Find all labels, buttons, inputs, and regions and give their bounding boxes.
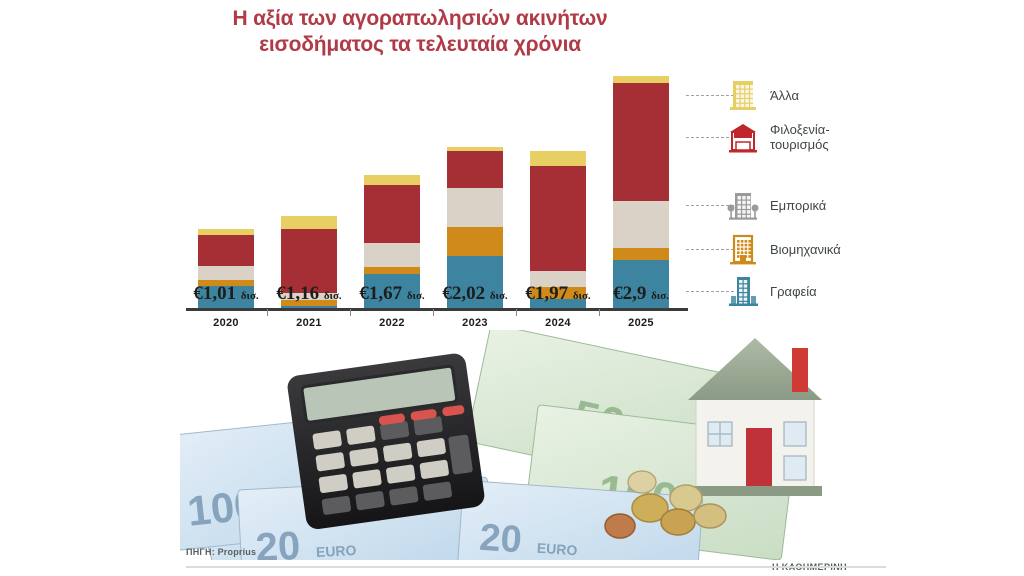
legend-item-Φιλοξενία-τουρισμός[interactable]: Φιλοξενία-τουρισμός bbox=[726, 120, 830, 154]
orange-building-icon bbox=[726, 232, 760, 266]
bar-segment-Φιλοξενία-τουρισμός bbox=[364, 185, 420, 243]
bar-segment-Φιλοξενία-τουρισμός bbox=[530, 166, 586, 271]
x-axis-label-2021: 2021 bbox=[296, 317, 322, 329]
chart-bars-container: €1,01 δισ.2020€1,16 δισ.2021€1,67 δισ.20… bbox=[186, 60, 686, 310]
axis-tick bbox=[599, 309, 600, 316]
bar-segment-Εμπορικά bbox=[364, 243, 420, 267]
legend-item-Γραφεία[interactable]: Γραφεία bbox=[726, 274, 817, 308]
page-title: Η αξία των αγοραπωλησιών ακινήτων εισοδή… bbox=[140, 6, 700, 58]
x-axis-label-2020: 2020 bbox=[213, 317, 239, 329]
bar-segment-Φιλοξενία-τουρισμός bbox=[198, 235, 254, 266]
axis-tick bbox=[267, 309, 268, 316]
legend-item-Άλλα[interactable]: Άλλα bbox=[726, 78, 799, 112]
bar-value-label: €1,97 δισ. bbox=[525, 283, 590, 305]
axis-tick bbox=[350, 309, 351, 316]
x-axis-label-2023: 2023 bbox=[462, 317, 488, 329]
bar-value-label: €1,67 δισ. bbox=[359, 283, 424, 305]
x-axis-label-2025: 2025 bbox=[628, 317, 654, 329]
bar-value-unit: δισ. bbox=[407, 290, 425, 302]
bar-value-unit: δισ. bbox=[241, 290, 259, 302]
legend-item-label: Εμπορικά bbox=[770, 198, 826, 213]
legend-item-label: Γραφεία bbox=[770, 284, 817, 299]
stacked-bar[interactable] bbox=[613, 76, 669, 310]
bar-value-label: €1,01 δισ. bbox=[193, 283, 258, 305]
source-label: ΠΗΓΗ: Proprius bbox=[186, 547, 256, 557]
legend-item-Εμπορικά[interactable]: Εμπορικά bbox=[726, 188, 826, 222]
bar-segment-Βιομηχανικά bbox=[447, 227, 503, 256]
x-axis-label-2022: 2022 bbox=[379, 317, 405, 329]
yellow-building-icon bbox=[726, 78, 760, 112]
bar-value-unit: δισ. bbox=[651, 290, 669, 302]
bar-segment-Φιλοξενία-τουρισμός bbox=[613, 83, 669, 202]
bar-segment-Φιλοξενία-τουρισμός bbox=[447, 151, 503, 188]
bar-segment-Άλλα bbox=[281, 216, 337, 229]
photo-svg: 20 EURO 100 50 100 20 EU bbox=[180, 330, 880, 560]
gray-building-icon bbox=[726, 188, 760, 222]
legend-item-label: Άλλα bbox=[770, 88, 799, 103]
bar-value-label: €1,16 δισ. bbox=[276, 283, 341, 305]
bar-segment-Άλλα bbox=[530, 151, 586, 166]
bar-segment-Εμπορικά bbox=[447, 188, 503, 227]
page-title-line-1: Η αξία των αγοραπωλησιών ακινήτων bbox=[140, 6, 700, 32]
bar-segment-Εμπορικά bbox=[198, 266, 254, 281]
house-model bbox=[688, 338, 822, 496]
legend-item-label: Φιλοξενία-τουρισμός bbox=[770, 122, 830, 152]
axis-tick bbox=[433, 309, 434, 316]
svg-text:20: 20 bbox=[255, 524, 302, 560]
blue-office-icon bbox=[726, 274, 760, 308]
bar-segment-Άλλα bbox=[364, 175, 420, 185]
bar-value-unit: δισ. bbox=[490, 290, 508, 302]
bar-value-label: €2,9 δισ. bbox=[613, 283, 669, 305]
bar-value-label: €2,02 δισ. bbox=[442, 283, 507, 305]
svg-text:20: 20 bbox=[478, 517, 523, 560]
stacked-bar-chart: €1,01 δισ.2020€1,16 δισ.2021€1,67 δισ.20… bbox=[186, 60, 686, 310]
illustration-photo: 20 EURO 100 50 100 20 EU bbox=[180, 330, 880, 560]
svg-text:EURO: EURO bbox=[316, 542, 357, 560]
axis-tick bbox=[516, 309, 517, 316]
legend-item-label: Βιομηχανικά bbox=[770, 242, 841, 257]
legend-item-Βιομηχανικά[interactable]: Βιομηχανικά bbox=[726, 232, 841, 266]
bar-segment-Εμπορικά bbox=[613, 201, 669, 248]
x-axis-label-2024: 2024 bbox=[545, 317, 571, 329]
svg-text:EURO: EURO bbox=[536, 540, 578, 559]
hotel-icon bbox=[726, 120, 760, 154]
bar-value-unit: δισ. bbox=[324, 290, 342, 302]
bar-value-unit: δισ. bbox=[573, 290, 591, 302]
bar-segment-Βιομηχανικά bbox=[613, 248, 669, 260]
page-title-line-2: εισοδήματος τα τελευταία χρόνια bbox=[140, 32, 700, 58]
x-axis-line bbox=[186, 308, 688, 311]
calculator bbox=[286, 352, 486, 531]
chart-legend: Άλλα Φιλοξενία-τουρισμός Εμπορικά Βιομηχ… bbox=[726, 60, 996, 310]
footer-divider bbox=[186, 566, 886, 568]
